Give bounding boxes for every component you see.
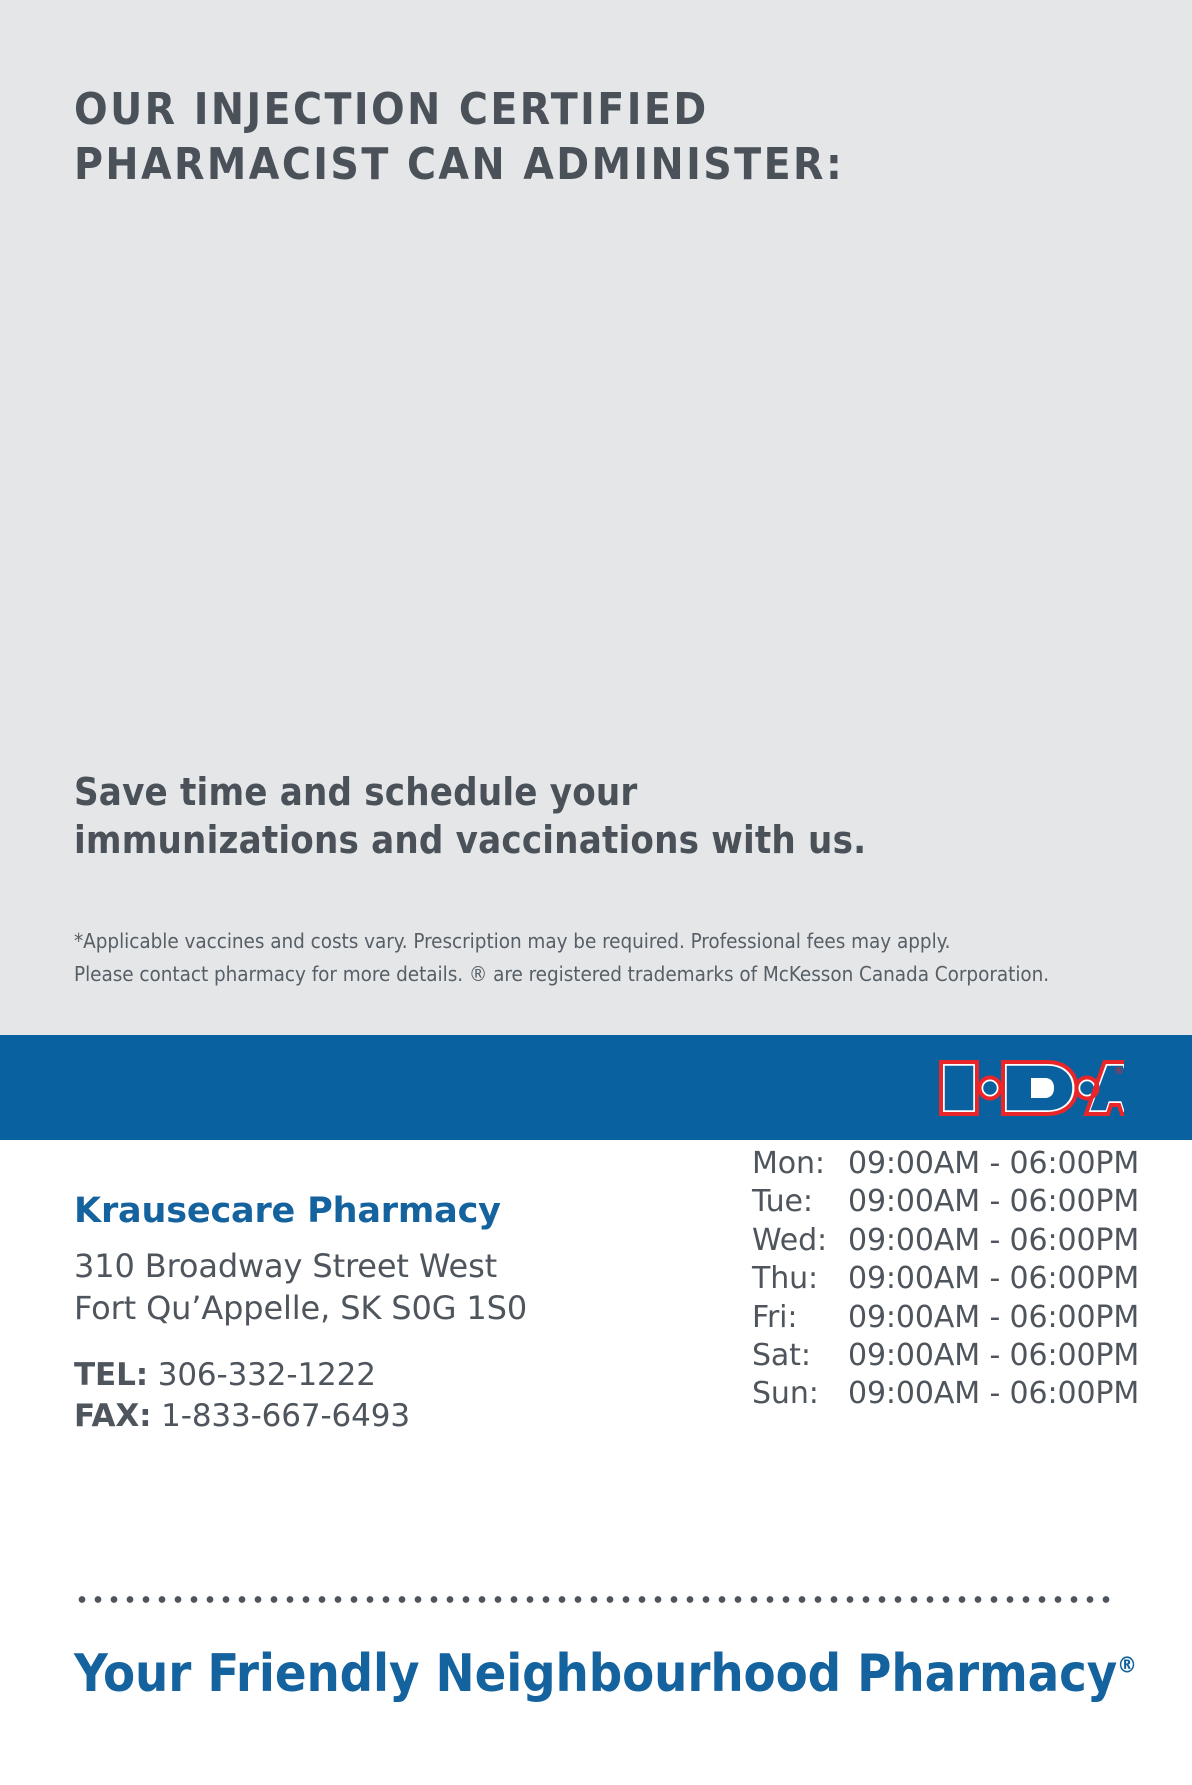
hours-time-value: 09:00AM - 06:00PM — [848, 1145, 1139, 1183]
footer-tagline: Your Friendly Neighbourhood Pharmacy® — [74, 1645, 1134, 1703]
fax-label: FAX: — [74, 1398, 151, 1434]
hours-time-value: 09:00AM - 06:00PM — [848, 1222, 1139, 1260]
hours-day-label: Tue: — [752, 1183, 848, 1221]
top-gray-panel: OUR INJECTION CERTIFIED PHARMACIST CAN A… — [0, 0, 1192, 1035]
hours-row: Tue: 09:00AM - 06:00PM — [752, 1183, 1132, 1221]
telephone-value[interactable]: 306-332-1222 — [158, 1357, 376, 1393]
hours-row: Sat: 09:00AM - 06:00PM — [752, 1337, 1132, 1375]
hours-row: Wed: 09:00AM - 06:00PM — [752, 1222, 1132, 1260]
subheading: Save time and schedule your immunization… — [74, 768, 934, 865]
ida-logo-icon: ® — [938, 1057, 1124, 1119]
hours-row: Mon: 09:00AM - 06:00PM — [752, 1145, 1132, 1183]
footer-registered-mark: ® — [1117, 1654, 1137, 1679]
hours-time-value: 09:00AM - 06:00PM — [848, 1299, 1139, 1337]
disclaimer-line-1: *Applicable vaccines and costs vary. Pre… — [74, 925, 1134, 958]
store-hours-table: Mon: 09:00AM - 06:00PM Tue: 09:00AM - 06… — [752, 1145, 1132, 1414]
disclaimer-text: *Applicable vaccines and costs vary. Pre… — [74, 925, 1134, 991]
headline-line-1: OUR INJECTION CERTIFIED — [74, 82, 934, 137]
hours-row: Sun: 09:00AM - 06:00PM — [752, 1375, 1132, 1413]
hours-time-value: 09:00AM - 06:00PM — [848, 1375, 1139, 1413]
dotted-divider — [74, 1595, 1118, 1604]
store-address: 310 Broadway Street West Fort Qu’Appelle… — [74, 1245, 694, 1329]
brand-band: ® — [0, 1035, 1192, 1140]
store-details: Krausecare Pharmacy 310 Broadway Street … — [74, 1192, 694, 1437]
hours-time-value: 09:00AM - 06:00PM — [848, 1183, 1139, 1221]
hours-day-label: Sun: — [752, 1375, 848, 1413]
hours-row: Thu: 09:00AM - 06:00PM — [752, 1260, 1132, 1298]
hours-time-value: 09:00AM - 06:00PM — [848, 1337, 1139, 1375]
subheading-line-2: immunizations and vaccinations with us. — [74, 816, 934, 864]
page-title: OUR INJECTION CERTIFIED PHARMACIST CAN A… — [74, 82, 934, 193]
telephone-label: TEL: — [74, 1357, 148, 1393]
hours-day-label: Sat: — [752, 1337, 848, 1375]
store-name: Krausecare Pharmacy — [74, 1192, 694, 1231]
pharmacy-poster: OUR INJECTION CERTIFIED PHARMACIST CAN A… — [0, 0, 1192, 1785]
hours-day-label: Thu: — [752, 1260, 848, 1298]
fax-line: FAX: 1-833-667-6493 — [74, 1396, 694, 1437]
hours-day-label: Wed: — [752, 1222, 848, 1260]
headline-line-2: PHARMACIST CAN ADMINISTER: — [74, 137, 934, 192]
footer-tagline-text: Your Friendly Neighbourhood Pharmacy — [74, 1644, 1117, 1704]
store-info-panel: Krausecare Pharmacy 310 Broadway Street … — [0, 1140, 1192, 1785]
hours-row: Fri: 09:00AM - 06:00PM — [752, 1299, 1132, 1337]
hours-day-label: Fri: — [752, 1299, 848, 1337]
disclaimer-line-2: Please contact pharmacy for more details… — [74, 958, 1134, 991]
telephone-line: TEL: 306-332-1222 — [74, 1355, 694, 1396]
hours-day-label: Mon: — [752, 1145, 848, 1183]
address-line-2: Fort Qu’Appelle, SK S0G 1S0 — [74, 1287, 694, 1329]
address-line-1: 310 Broadway Street West — [74, 1245, 694, 1287]
ida-logo: ® — [938, 1057, 1124, 1119]
hours-time-value: 09:00AM - 06:00PM — [848, 1260, 1139, 1298]
subheading-line-1: Save time and schedule your — [74, 768, 934, 816]
fax-value[interactable]: 1-833-667-6493 — [161, 1398, 410, 1434]
store-contact: TEL: 306-332-1222 FAX: 1-833-667-6493 — [74, 1355, 694, 1437]
logo-registered-mark: ® — [1114, 1066, 1124, 1077]
